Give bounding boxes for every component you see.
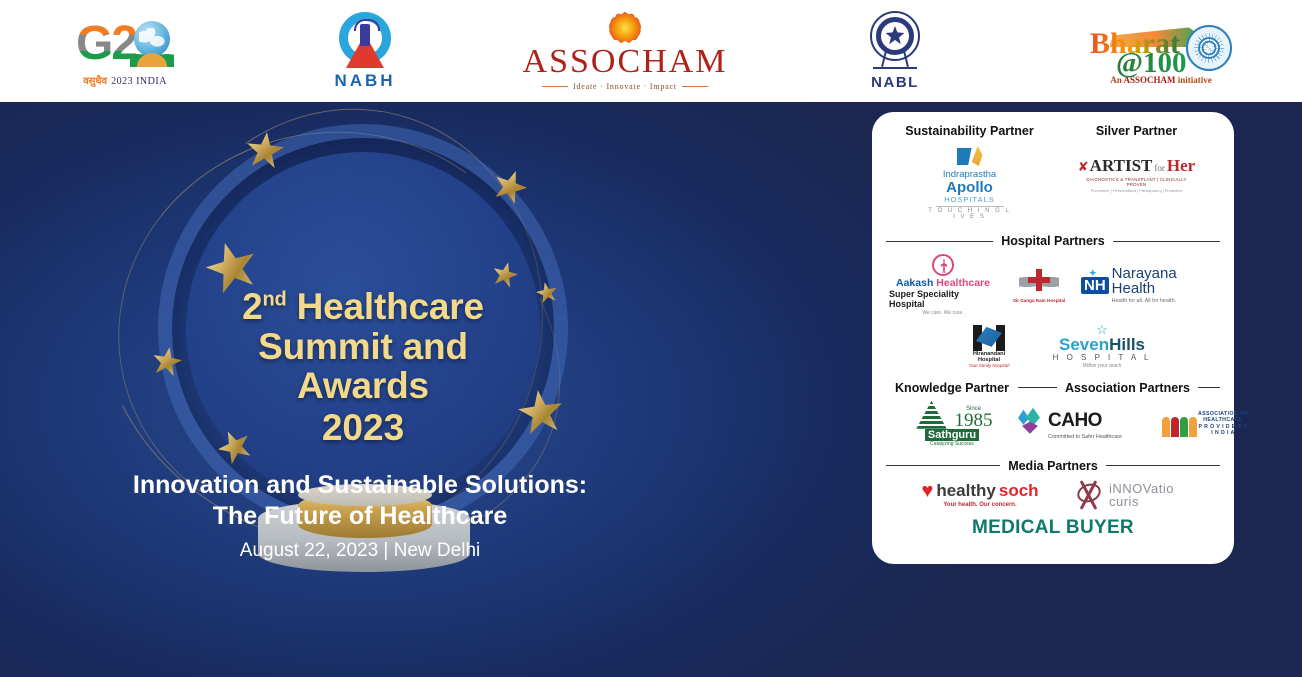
logo-artist-for-her: ✘ ARTIST for Her DIAGNOSTICS & TRANSPLAN… — [1077, 156, 1197, 193]
sustainability-partner-heading: Sustainability Partner — [886, 124, 1053, 138]
nabl-emblem-icon — [865, 11, 925, 73]
silver-partner-heading: Silver Partner — [1053, 124, 1220, 138]
healthysoch-name-2: soch — [999, 481, 1039, 501]
logo-nabh: NABH — [250, 0, 480, 102]
logo-sir-ganga-ram-hospital: Sir Ganga Ram Hospital — [1007, 267, 1071, 303]
logo-medical-buyer: MEDICAL BUYER — [972, 517, 1134, 538]
narayana-name: Narayana Health — [1112, 266, 1217, 296]
logo-caho: CAHO Committed to Safer Healthcare — [1018, 408, 1148, 440]
hiranandani-tagline: Your family hospital! — [968, 363, 1009, 368]
artist-sub-2: Preventive | Personalised | Participator… — [1091, 188, 1183, 193]
media-partners-divider: Media Partners — [886, 459, 1220, 473]
event-date-venue: August 22, 2023 | New Delhi — [60, 540, 660, 562]
logo-narayana-health: ✦NH Narayana Health Health for all. All … — [1081, 266, 1217, 304]
logo-ahpi: ASSOCIATION OF HEALTHCARE P R O V I D E … — [1162, 411, 1252, 437]
event-title: 2nd Healthcare Summit and Awards 2023 — [188, 287, 538, 447]
artist-swoosh-icon: ✘ — [1078, 159, 1089, 175]
sevenhills-sub: H O S P I T A L — [1053, 353, 1152, 362]
assocham-rule-right — [682, 86, 708, 87]
hospital-partners-divider: Hospital Partners — [886, 234, 1220, 248]
ahpi-name: ASSOCIATION OF HEALTHCARE P R O V I D E … — [1198, 411, 1248, 437]
caho-droplets-icon — [1018, 408, 1044, 434]
apollo-line-3: HOSPITALS — [944, 195, 995, 204]
g20-wordmark: G2 — [76, 16, 136, 71]
partners-card: Sustainability Partner Silver Partner In… — [872, 112, 1234, 564]
media-partner-logos-row: ♥ healthysoch Your health. Our concern. … — [886, 479, 1220, 511]
g20-globe-lotus-icon — [130, 21, 174, 67]
narayana-tagline: Health for all. All for health. — [1112, 298, 1217, 304]
bharat-at100-text: @100 — [1116, 47, 1186, 80]
medical-buyer-row: MEDICAL BUYER — [886, 517, 1220, 539]
aakash-line-3: We care. We cure. — [922, 310, 963, 316]
event-theme-line-2: The Future of Healthcare — [60, 501, 660, 532]
event-title-line-3: Awards — [188, 366, 538, 406]
assocham-tagline: Ideate · Innovate · Impact — [573, 82, 677, 91]
hospital-partner-logos-row-1: Aakash Healthcare Super Speciality Hospi… — [886, 254, 1220, 316]
artist-sub-1: DIAGNOSTICS & TRANSPLANT | CLINICALLY PR… — [1077, 177, 1197, 187]
innovatio-curis-x-icon — [1073, 479, 1105, 511]
caho-name: CAHO — [1048, 410, 1102, 432]
artist-word-1: ARTIST — [1090, 156, 1153, 176]
artist-word-2: for — [1154, 163, 1165, 173]
sevenhills-name: SevenHills — [1059, 336, 1145, 353]
nabl-label: NABL — [871, 74, 919, 91]
aakash-line-2: Super Speciality Hospital — [889, 289, 997, 309]
sathguru-pyramid-icon — [912, 401, 952, 429]
aakash-line-1: Aakash Healthcare — [896, 277, 990, 289]
event-title-line-1: 2nd Healthcare — [188, 287, 538, 327]
ahpi-people-icon — [1162, 411, 1196, 437]
assocham-rule-left — [542, 86, 568, 87]
event-title-year: 2023 — [188, 408, 538, 448]
hero-stage: 2nd Healthcare Summit and Awards 2023 In… — [0, 102, 1302, 677]
sathguru-name: Sathguru — [925, 429, 979, 441]
nabh-label: NABH — [334, 71, 395, 91]
assocham-wordmark: ASSOCHAM — [523, 45, 728, 79]
ganga-ram-label: Sir Ganga Ram Hospital — [1013, 298, 1065, 303]
event-theme-line-1: Innovation and Sustainable Solutions: — [60, 470, 660, 501]
media-partners-heading: Media Partners — [1008, 459, 1098, 473]
event-title-line-2: Summit and — [188, 327, 538, 367]
ashoka-chakra-icon — [1186, 25, 1232, 71]
sathguru-year: 1985 — [955, 412, 993, 429]
logo-sathguru: Since 1985 Sathguru Catalyzing Success — [897, 401, 1007, 447]
logo-assocham: ASSOCHAM Ideate · Innovate · Impact — [480, 0, 770, 102]
knowledge-partner-heading: Knowledge Partner — [886, 381, 1018, 395]
aakash-person-icon — [932, 254, 954, 276]
nabh-emblem-icon — [334, 12, 396, 70]
hiranandani-h-icon — [969, 325, 1009, 351]
event-theme-block: Innovation and Sustainable Solutions: Th… — [60, 470, 660, 562]
apollo-flame-icon — [957, 146, 983, 168]
innovatio-curis-line-1: iNNOVatio — [1109, 482, 1174, 495]
logo-nabl: NABL — [770, 0, 1020, 102]
logo-bharat-at-100: Bharat @100 An ASSOCHAM initiative — [1020, 0, 1302, 102]
logo-g20: G2 वसुधैव 2023 INDIA — [0, 0, 250, 102]
hospital-partner-logos-row-2: Hiranandani Hospital Your family hospita… — [886, 324, 1220, 369]
apollo-divider — [936, 206, 1004, 207]
association-partners-heading: Association Partners — [1065, 381, 1190, 395]
hospital-partners-heading: Hospital Partners — [1001, 234, 1105, 248]
apollo-line-2: Apollo — [946, 180, 993, 195]
accreditation-logo-strip: G2 वसुधैव 2023 INDIA NABH — [0, 0, 1302, 102]
top-partner-logos: Indraprastha Apollo HOSPITALS T O U C H … — [886, 146, 1220, 220]
logo-aakash-healthcare: Aakash Healthcare Super Speciality Hospi… — [889, 254, 997, 316]
innovatio-curis-line-2: curis — [1109, 495, 1174, 508]
healthysoch-tagline: Your health. Our concern. — [943, 502, 1016, 508]
ganga-ram-emblem-icon — [1019, 267, 1059, 297]
assocham-sun-icon — [609, 12, 641, 44]
logo-sevenhills-hospital: ☆ SevenHills H O S P I T A L Within your… — [1052, 324, 1152, 369]
sathguru-tagline: Catalyzing Success — [930, 441, 974, 447]
narayana-nh-mark: ✦NH — [1081, 277, 1109, 294]
artist-word-3: Her — [1167, 156, 1195, 176]
sevenhills-tagline: Within your reach — [1083, 363, 1122, 369]
logo-hiranandani-hospital: Hiranandani Hospital Your family hospita… — [954, 325, 1024, 368]
apollo-tagline: T O U C H I N G L I V E S — [927, 208, 1013, 220]
caho-tagline: Committed to Safer Healthcare — [1048, 434, 1122, 440]
knowledge-association-headings: Knowledge Partner Association Partners — [886, 381, 1220, 395]
logo-healthysoch: ♥ healthysoch Your health. Our concern. — [905, 481, 1055, 508]
logo-innovatio-curis: iNNOVatio curis — [1073, 479, 1201, 511]
healthysoch-name-1: healthy — [936, 481, 996, 501]
knowledge-association-logos: Since 1985 Sathguru Catalyzing Success C… — [886, 401, 1220, 447]
event-poster: G2 वसुधैव 2023 INDIA NABH — [0, 0, 1302, 677]
g20-year-country: 2023 INDIA — [111, 76, 167, 87]
top-partner-headings: Sustainability Partner Silver Partner — [886, 124, 1220, 138]
healthysoch-heart-icon: ♥ — [921, 481, 933, 501]
narayana-crown-icon: ✦ — [1089, 268, 1097, 279]
g20-hindi-text: वसुधैव — [83, 73, 107, 87]
logo-indraprastha-apollo: Indraprastha Apollo HOSPITALS T O U C H … — [927, 146, 1013, 220]
